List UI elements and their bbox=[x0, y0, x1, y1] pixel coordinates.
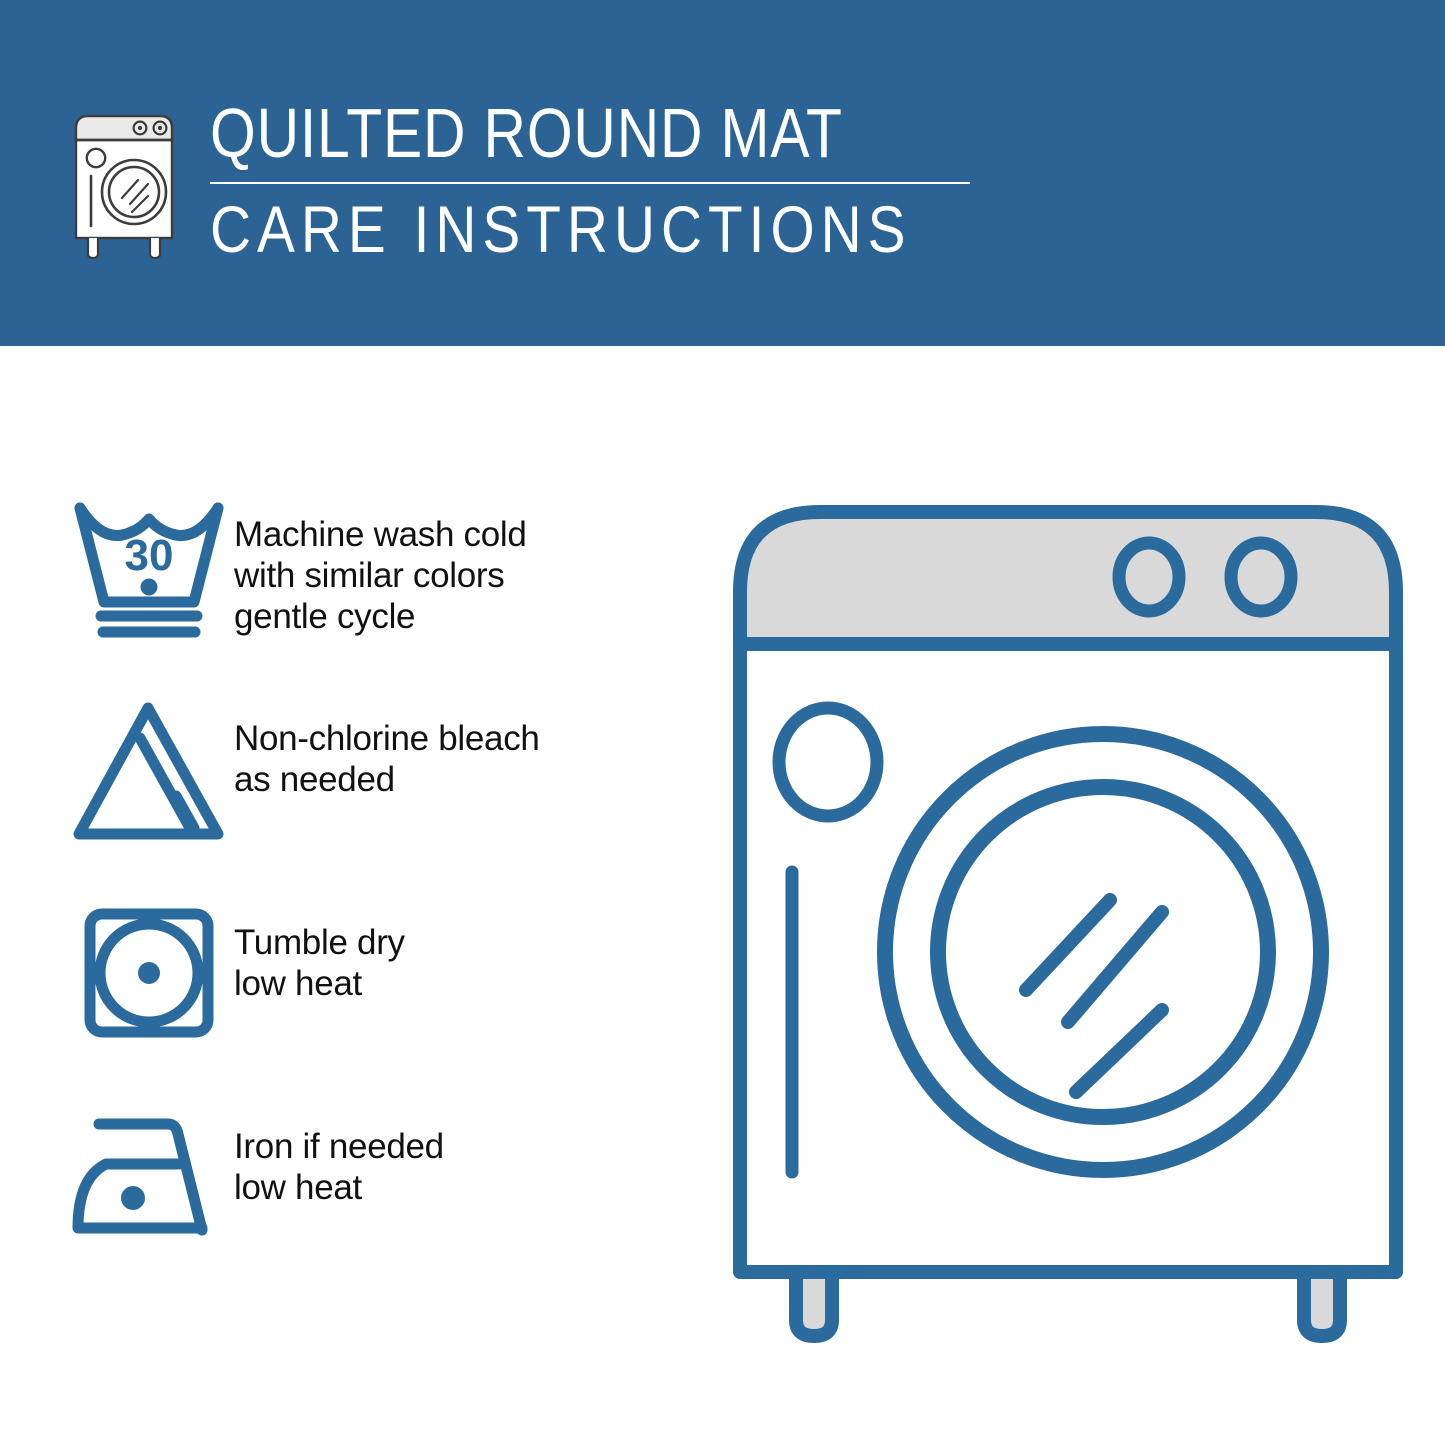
care-instruction-list: 30 Machine wash cold with similar colors… bbox=[68, 490, 688, 1306]
iron-low-heat-icon bbox=[68, 1102, 234, 1252]
care-instruction-item: 30 Machine wash cold with similar colors… bbox=[68, 490, 688, 694]
care-instruction-item: Non-chlorine bleach as needed bbox=[68, 694, 688, 898]
wash-temperature-label: 30 bbox=[125, 531, 174, 580]
care-text-line: Machine wash cold bbox=[234, 514, 688, 555]
leg-left bbox=[796, 1272, 832, 1336]
care-text-line: with similar colors bbox=[234, 555, 688, 596]
header-title-group: QUILTED ROUND MAT CARE INSTRUCTIONS bbox=[210, 96, 1026, 264]
control-panel bbox=[740, 512, 1396, 644]
care-instruction-text: Non-chlorine bleach as needed bbox=[234, 694, 688, 800]
care-text-line: gentle cycle bbox=[234, 596, 688, 637]
tumble-dry-low-heat-icon bbox=[68, 898, 234, 1048]
title-divider bbox=[210, 182, 970, 184]
wash-tub-30-gentle-icon: 30 bbox=[68, 490, 234, 640]
knob-right bbox=[1231, 543, 1291, 611]
care-instruction-text: Machine wash cold with similar colors ge… bbox=[234, 490, 688, 637]
page-subtitle: CARE INSTRUCTIONS bbox=[210, 194, 912, 264]
care-instruction-item: Tumble dry low heat bbox=[68, 898, 688, 1102]
knob-left bbox=[1119, 543, 1179, 611]
care-text-line: low heat bbox=[234, 963, 688, 1004]
detergent-dispenser-circle bbox=[779, 708, 877, 816]
care-text-line: as needed bbox=[234, 759, 688, 800]
care-instruction-item: Iron if needed low heat bbox=[68, 1102, 688, 1306]
non-chlorine-bleach-triangle-icon bbox=[68, 694, 234, 844]
care-text-line: Non-chlorine bleach bbox=[234, 718, 688, 759]
leg-right bbox=[1304, 1272, 1340, 1336]
header-banner: QUILTED ROUND MAT CARE INSTRUCTIONS bbox=[0, 0, 1445, 346]
washing-machine-icon bbox=[68, 104, 188, 260]
care-instruction-text: Iron if needed low heat bbox=[234, 1102, 688, 1208]
care-text-line: Tumble dry bbox=[234, 922, 688, 963]
care-text-line: Iron if needed bbox=[234, 1126, 688, 1167]
care-instruction-text: Tumble dry low heat bbox=[234, 898, 688, 1004]
header-content: QUILTED ROUND MAT CARE INSTRUCTIONS bbox=[68, 96, 1026, 264]
care-text-line: low heat bbox=[234, 1167, 688, 1208]
front-load-washing-machine-illustration bbox=[718, 472, 1418, 1372]
page-title: QUILTED ROUND MAT bbox=[210, 96, 895, 170]
